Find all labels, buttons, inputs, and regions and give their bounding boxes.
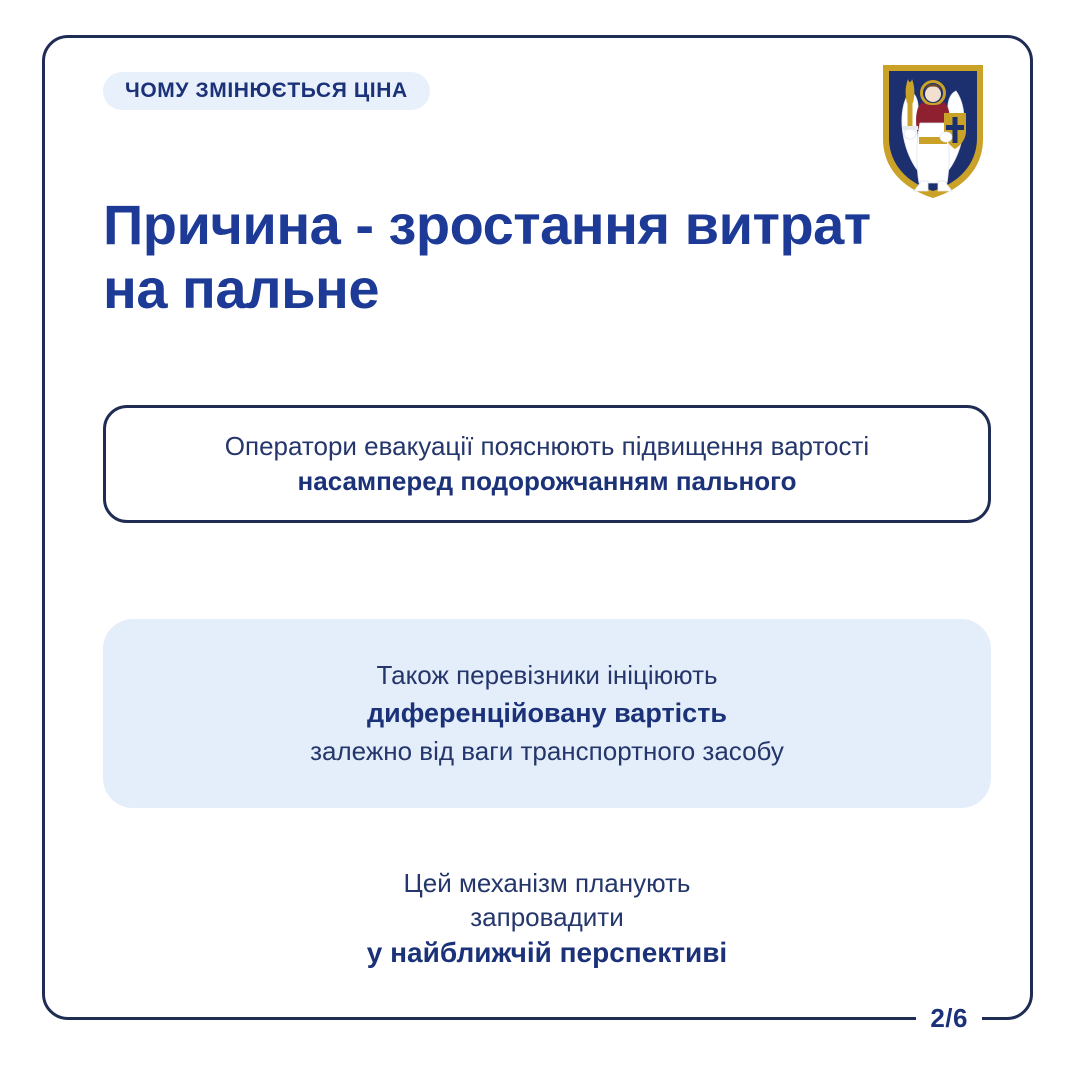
closing-bold-line: у найближчій перспективі: [103, 935, 991, 972]
statement-regular-line: Оператори евакуації пояснюють підвищення…: [225, 429, 869, 464]
closing-regular-line-1: Цей механізм планують: [103, 866, 991, 900]
highlight-bold-line: диференційовану вартість: [367, 694, 727, 733]
slide-frame: ЧОМУ ЗМІНЮЄТЬСЯ ЦІНА: [42, 35, 1033, 1020]
highlight-regular-line-2: залежно від ваги транспортного засобу: [310, 733, 784, 770]
closing-note: Цей механізм планують запровадити у найб…: [103, 866, 991, 972]
highlight-regular-line-1: Також перевізники ініціюють: [376, 657, 717, 694]
pagination-indicator: 2/6: [916, 1001, 982, 1035]
closing-regular-line-2: запровадити: [103, 900, 991, 934]
page-title: Причина - зростання витрат на пальне: [103, 193, 893, 321]
statement-box: Оператори евакуації пояснюють підвищення…: [103, 405, 991, 523]
kyiv-coat-of-arms-icon: [880, 61, 986, 201]
eyebrow-badge: ЧОМУ ЗМІНЮЄТЬСЯ ЦІНА: [103, 72, 430, 110]
headline-line-2: на пальне: [103, 257, 893, 321]
statement-bold-line: насамперед подорожчанням пального: [298, 464, 797, 499]
highlight-box: Також перевізники ініціюють диференційов…: [103, 619, 991, 808]
pagination-label: 2/6: [930, 1003, 968, 1034]
headline-line-1: Причина - зростання витрат: [103, 193, 893, 257]
eyebrow-label: ЧОМУ ЗМІНЮЄТЬСЯ ЦІНА: [125, 79, 408, 103]
